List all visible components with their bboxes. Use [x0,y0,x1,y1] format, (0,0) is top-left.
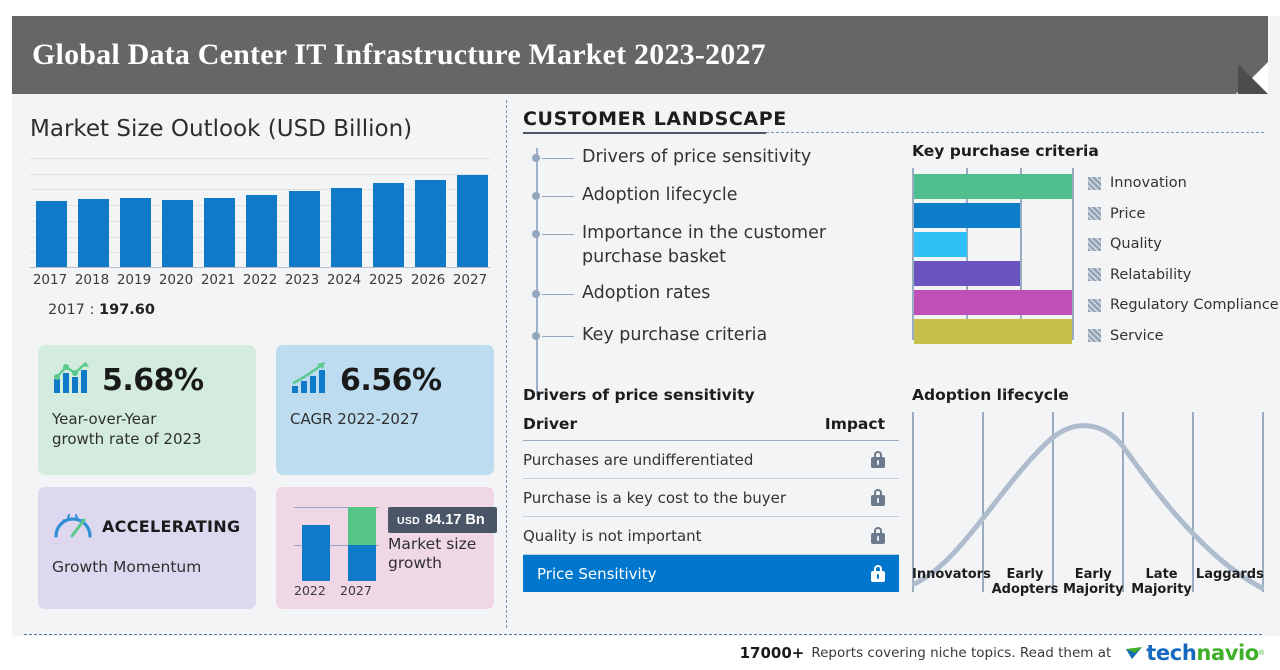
x-label: 2025 [368,272,404,288]
kpc-bar-service [914,319,1072,344]
bar-chart-x-axis: 2017 2018 2019 2020 2021 2022 2023 2024 … [30,272,490,288]
growth-arrow-icon [290,361,330,400]
bar-2020 [162,200,193,267]
hatch-swatch-icon [1088,299,1101,312]
legend-label: Innovation [1110,175,1187,191]
first-year-number: 197.60 [99,302,155,318]
kpc-bar-regulatory-compliance [914,290,1072,315]
bar-2024 [331,188,362,267]
driver-label: Quality is not important [523,527,702,545]
market-growth-badge: USD84.17 Bn [388,507,497,533]
footer-text: Reports covering niche topics. Read them… [811,645,1111,661]
drivers-title: Drivers of price sensitivity [523,386,899,404]
kpi-card-yoy: 5.68% Year-over-Year growth rate of 2023 [38,345,256,475]
technavio-logo[interactable]: tech navio ® [1126,641,1264,665]
kpi-caption-cagr: CAGR 2022-2027 [276,400,494,430]
list-item[interactable]: Adoption rates [536,282,710,306]
kpi-value-cagr: 6.56% [340,363,442,398]
kpc-bar-innovation [914,174,1072,199]
table-row[interactable]: Purchases are undifferentiated [523,441,899,479]
kpi-card-market-growth: 2022 2027 USD84.17 Bn Market size growth [276,487,494,609]
legend-item: Innovation [1088,168,1266,199]
connector-line [542,336,574,338]
connector-line [542,234,574,236]
adoption-lifecycle-chart: Adoption lifecycle Innovators Early Adop… [906,386,1266,616]
connector-line [542,294,574,296]
customer-landscape-title: CUSTOMER LANDSCAPE [523,108,787,130]
kpc-bar-price [914,203,1020,228]
page-title: Global Data Center IT Infrastructure Mar… [32,38,766,72]
footer: 17000+ Reports covering niche topics. Re… [0,641,1280,670]
logo-text-tech: tech [1146,641,1196,665]
column-header-driver: Driver [523,415,577,433]
kpi-card-cagr: 6.56% CAGR 2022-2027 [276,345,494,475]
legend-label: Quality [1110,236,1162,252]
legend-item: Regulatory Compliance [1088,290,1266,321]
bar-2027 [457,175,488,267]
header-bar: Global Data Center IT Infrastructure Mar… [12,16,1268,94]
momentum-caption: Growth Momentum [38,544,256,576]
list-item-label: Adoption rates [582,282,710,306]
bar-2019 [120,198,151,267]
table-row-highlighted[interactable]: Price Sensitivity [523,555,899,592]
lock-icon [871,565,885,582]
hatch-swatch-icon [1088,329,1101,342]
kpi-card-momentum: ACCELERATING Growth Momentum [38,487,256,609]
mini-bar-label: 2022 [294,583,326,598]
driver-label: Purchases are undifferentiated [523,451,753,469]
title-dashed-rule [766,132,1264,133]
market-size-title: Market Size Outlook (USD Billion) [30,116,412,142]
kpc-legend: Innovation Price Quality Relatability Re… [1088,168,1266,351]
kpc-bar-quality [914,232,967,257]
x-label: 2027 [452,272,488,288]
registered-mark: ® [1259,650,1264,657]
lifecycle-label: Late Majority [1127,568,1195,598]
driver-label: Price Sensitivity [537,565,656,583]
list-item-label: Drivers of price sensitivity [582,146,811,170]
legend-label: Relatability [1110,267,1191,283]
first-year-label: 2017 : [48,302,94,318]
badge-unit: USD [397,515,420,527]
drivers-table: Drivers of price sensitivity Driver Impa… [523,386,899,592]
badge-value: 84.17 Bn [425,512,485,528]
x-label: 2022 [242,272,278,288]
market-size-panel: Market Size Outlook (USD Billion) [12,96,506,628]
list-item-label: Importance in the customer purchase bask… [582,222,826,269]
lifecycle-x-axis: Innovators Early Adopters Early Majority… [912,568,1264,598]
lifecycle-label: Early Adopters [991,568,1059,598]
lock-icon [871,451,885,468]
table-row[interactable]: Purchase is a key cost to the buyer [523,479,899,517]
bullet-dot-icon [532,332,540,340]
technavio-arrow-icon [1126,646,1143,661]
list-item[interactable]: Drivers of price sensitivity [536,146,811,170]
landscape-timeline: Drivers of price sensitivity Adoption li… [536,142,916,402]
mini-bar-label: 2027 [340,583,372,598]
report-count: 17000+ [740,644,805,662]
market-size-bar-chart [30,158,490,268]
x-label: 2026 [410,272,446,288]
table-header-row: Driver Impact [523,415,899,441]
x-label: 2021 [200,272,236,288]
hatch-swatch-icon [1088,268,1101,281]
stacked-bars-icon: 2022 2027 [294,503,379,593]
horizontal-divider [24,634,1262,635]
kpi-value-yoy: 5.68% [102,363,204,398]
list-item[interactable]: Adoption lifecycle [536,184,738,208]
infographic-page: Global Data Center IT Infrastructure Mar… [0,0,1280,670]
x-label: 2024 [326,272,362,288]
kpi-caption-yoy: Year-over-Year growth rate of 2023 [38,400,256,449]
kpc-bar-relatability [914,261,1020,286]
bell-curve-icon [912,412,1264,592]
customer-landscape-panel: CUSTOMER LANDSCAPE Drivers of price sens… [506,96,1268,628]
kpc-title: Key purchase criteria [912,142,1099,160]
connector-line [542,158,574,160]
bullet-dot-icon [532,192,540,200]
legend-label: Service [1110,328,1164,344]
logo-text-navio: navio [1196,641,1258,665]
x-label: 2017 [32,272,68,288]
column-header-impact: Impact [825,415,885,433]
x-label: 2019 [116,272,152,288]
bar-2022 [246,195,277,267]
driver-label: Purchase is a key cost to the buyer [523,489,786,507]
bar-series [36,158,488,267]
list-item-label: Key purchase criteria [582,324,767,348]
speedometer-icon [52,509,94,544]
market-growth-caption: Market size growth [388,535,476,574]
first-year-value: 2017 : 197.60 [48,302,155,318]
bar-2025 [373,183,404,267]
kpc-plot-area [912,168,1074,340]
lifecycle-title: Adoption lifecycle [912,386,1069,404]
bar-line-chart-icon [52,361,92,400]
bar-2017 [36,201,67,267]
hatch-swatch-icon [1088,238,1101,251]
lifecycle-label: Innovators [912,568,991,598]
x-label: 2023 [284,272,320,288]
x-label: 2018 [74,272,110,288]
legend-item: Service [1088,321,1266,352]
momentum-status: ACCELERATING [102,517,240,536]
legend-label: Price [1110,206,1145,222]
bar-2021 [204,198,235,267]
legend-item: Quality [1088,229,1266,260]
list-item[interactable]: Key purchase criteria [536,324,767,348]
connector-line [542,196,574,198]
corner-fold-shadow-icon [1238,64,1268,94]
table-row[interactable]: Quality is not important [523,517,899,555]
legend-item: Relatability [1088,260,1266,291]
bullet-dot-icon [532,230,540,238]
title-underline [523,132,766,134]
bar-2023 [289,191,320,267]
lifecycle-plot-area [912,412,1264,577]
list-item-label: Adoption lifecycle [582,184,738,208]
legend-label: Regulatory Compliance [1110,297,1279,313]
lock-icon [871,489,885,506]
x-label: 2020 [158,272,194,288]
bullet-dot-icon [532,154,540,162]
legend-item: Price [1088,199,1266,230]
hatch-swatch-icon [1088,177,1101,190]
list-item[interactable]: Importance in the customer purchase bask… [536,222,826,269]
bar-2018 [78,199,109,267]
bar-2026 [415,180,446,267]
lifecycle-label: Early Majority [1059,568,1127,598]
lock-icon [871,527,885,544]
bullet-dot-icon [532,290,540,298]
hatch-swatch-icon [1088,207,1101,220]
lifecycle-label: Laggards [1196,568,1264,598]
